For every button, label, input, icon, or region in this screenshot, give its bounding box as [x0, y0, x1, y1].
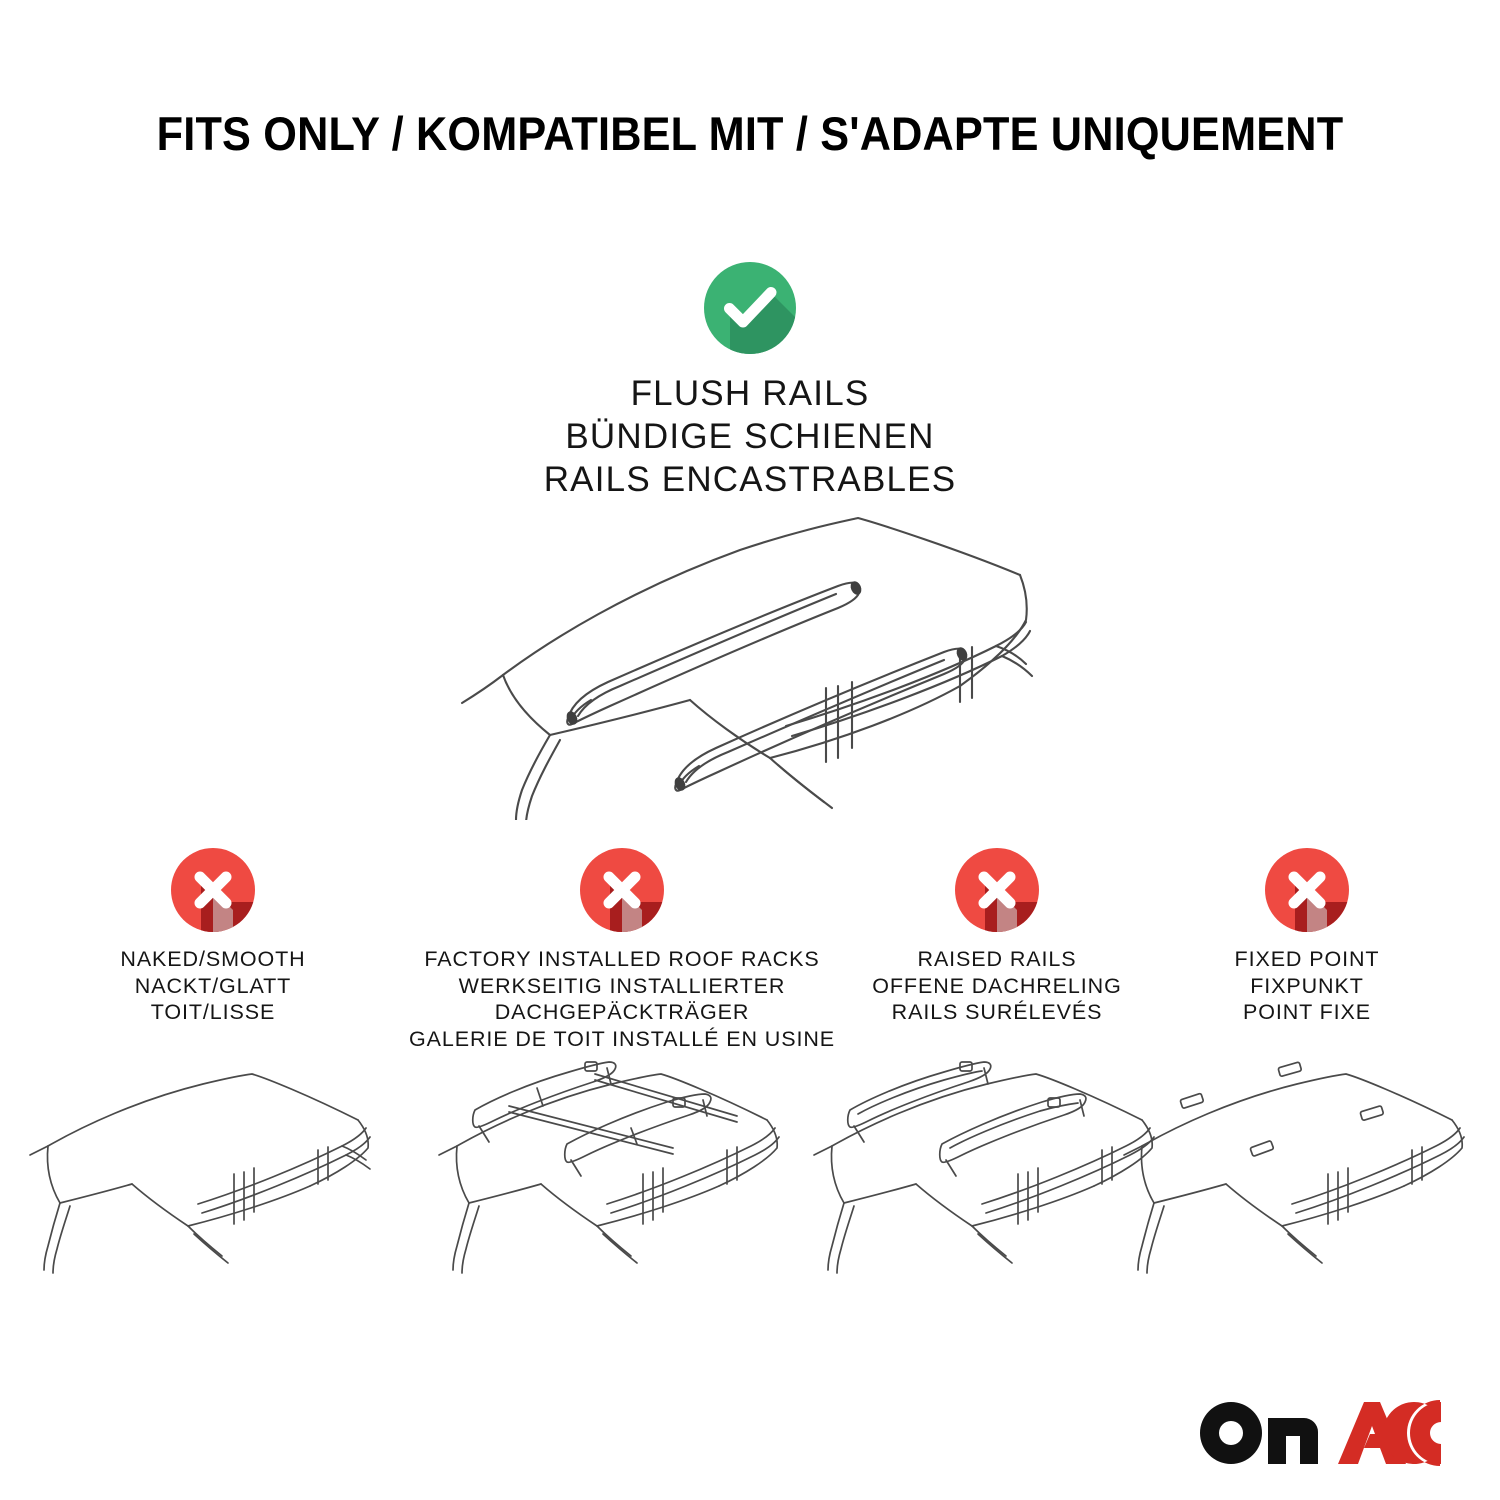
- compatible-block: FLUSH RAILS BÜNDIGE SCHIENEN RAILS ENCAS…: [0, 262, 1500, 501]
- incompatible-caption: FIXED POINT FIXPUNKT POINT FIXE: [907, 946, 1500, 1026]
- omac-logo-mark: [1198, 1400, 1448, 1466]
- red-x-circle-icon: [1265, 848, 1349, 932]
- incompatible-grid: NAKED/SMOOTH NACKT/GLATT TOIT/LISSE: [0, 848, 1500, 1288]
- compatible-caption: FLUSH RAILS BÜNDIGE SCHIENEN RAILS ENCAS…: [0, 372, 1500, 501]
- compatible-label-en: FLUSH RAILS: [0, 372, 1500, 415]
- omac-logo: [1198, 1404, 1448, 1466]
- car-roof-fixed-point-illustration: [1122, 1048, 1492, 1283]
- car-roof-flush-rails-illustration: [440, 490, 1060, 820]
- compatible-label-de: BÜNDIGE SCHIENEN: [0, 415, 1500, 458]
- car-roof-factory-racks-illustration: [437, 1048, 807, 1283]
- car-roof-naked-illustration: [28, 1048, 398, 1283]
- green-check-circle-icon: [704, 262, 796, 354]
- caption-line: FIXED POINT: [907, 946, 1500, 973]
- caption-line: FIXPUNKT: [907, 973, 1500, 1000]
- page-title: FITS ONLY / KOMPATIBEL MIT / S'ADAPTE UN…: [60, 106, 1440, 161]
- caption-line: POINT FIXE: [907, 999, 1500, 1026]
